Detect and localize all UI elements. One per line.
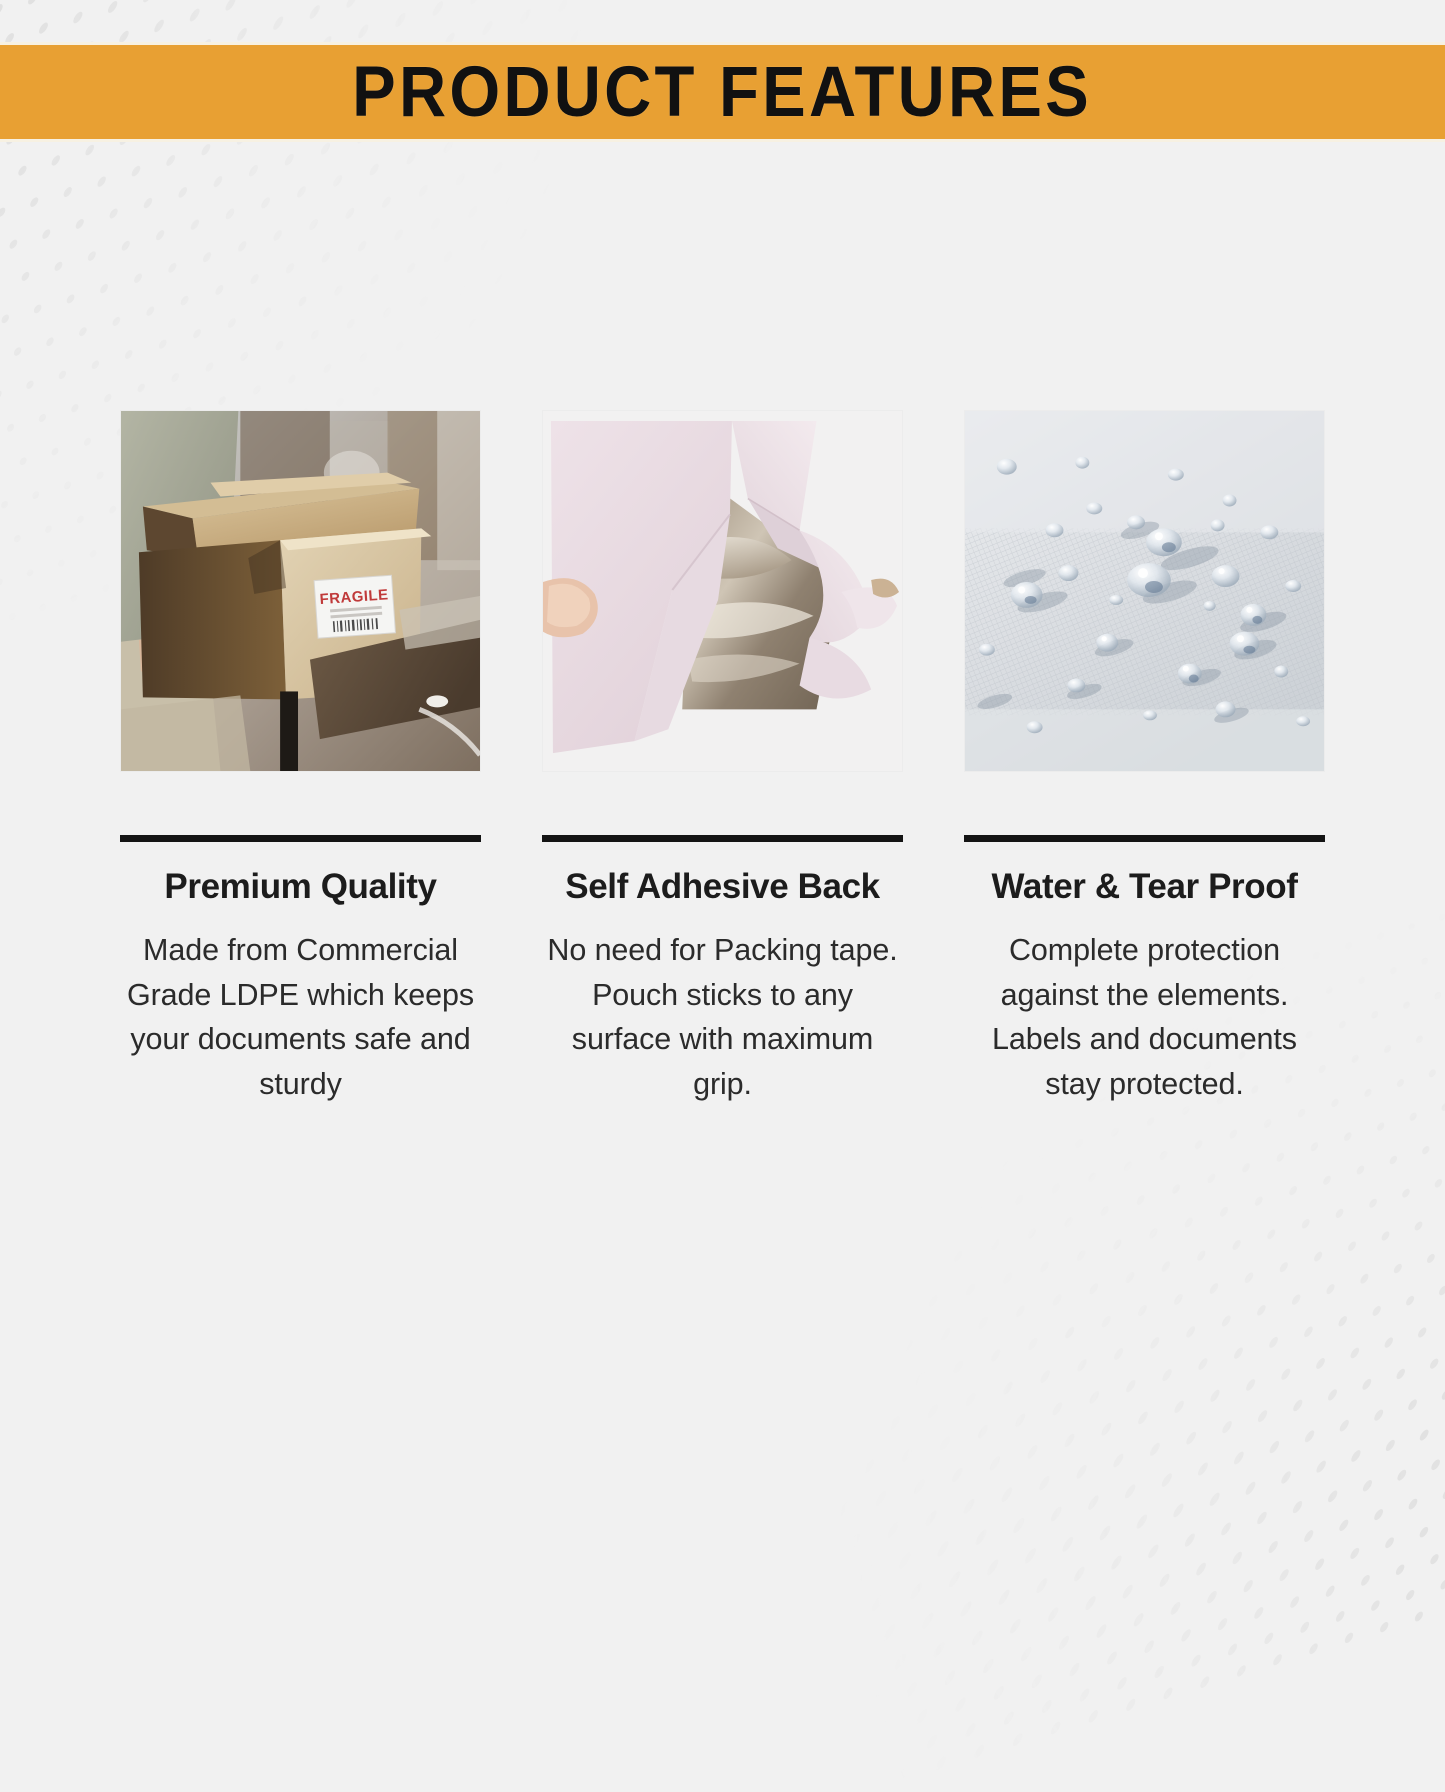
feature-body: No need for Packing tape. Pouch sticks t…	[542, 928, 903, 1107]
page-header-banner: PRODUCT FEATURES	[0, 42, 1445, 142]
feature-card-list: FRAGILE	[120, 410, 1324, 1107]
feature-title: Water & Tear Proof	[964, 869, 1325, 906]
page-title: PRODUCT FEATURES	[353, 52, 1093, 133]
card-divider-rule	[542, 835, 903, 842]
feature-card: FRAGILE	[120, 410, 481, 1107]
card-divider-rule	[964, 835, 1325, 842]
feature-image-water-tear-proof	[964, 410, 1325, 772]
feature-body: Made from Commercial Grade LDPE which ke…	[120, 928, 481, 1107]
feature-image-premium-quality: FRAGILE	[120, 410, 481, 772]
feature-image-self-adhesive-back	[542, 410, 903, 772]
feature-title: Self Adhesive Back	[542, 869, 903, 906]
feature-title: Premium Quality	[120, 869, 481, 906]
feature-card: Self Adhesive Back No need for Packing t…	[542, 410, 903, 1107]
feature-body: Complete protection against the elements…	[964, 928, 1325, 1107]
card-divider-rule	[120, 835, 481, 842]
feature-card: Water & Tear Proof Complete protection a…	[964, 410, 1325, 1107]
